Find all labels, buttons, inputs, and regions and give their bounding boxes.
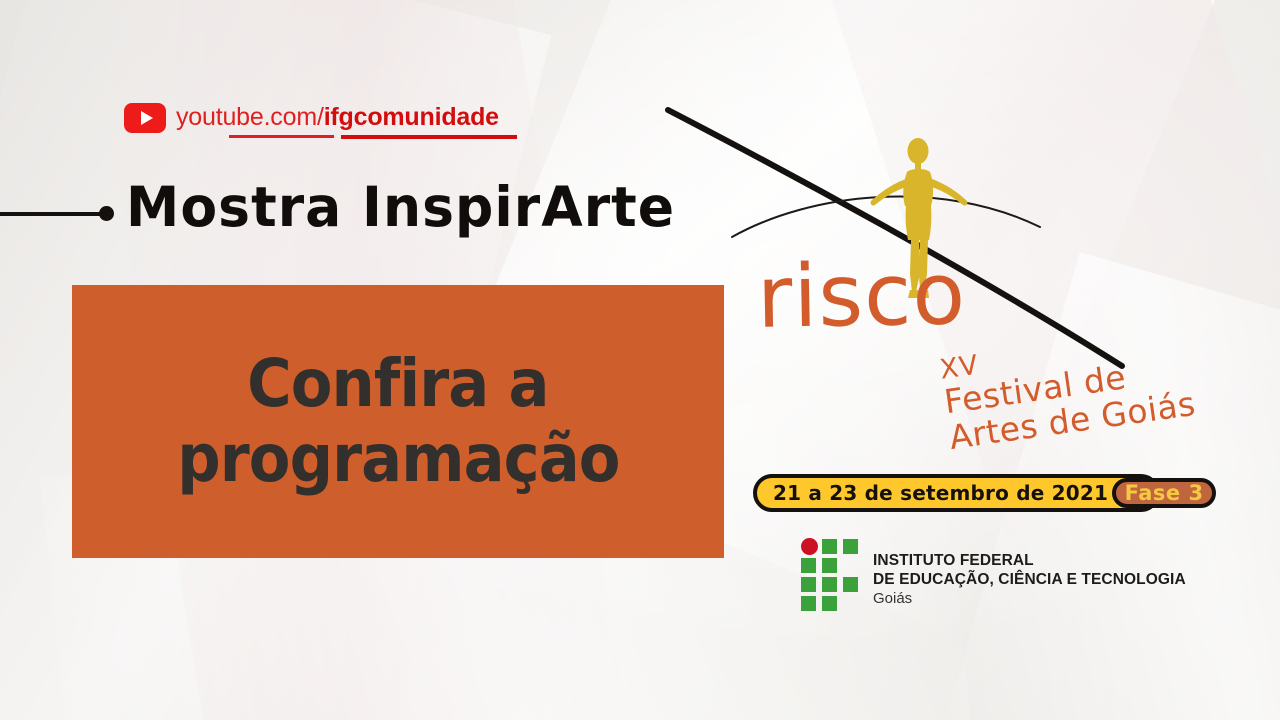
ifg-line-3: Goiás — [873, 590, 1186, 608]
ifg-line-1: INSTITUTO FEDERAL — [873, 552, 1186, 571]
event-dates: 21 a 23 de setembro de 2021 — [773, 481, 1112, 505]
date-banner: 21 a 23 de setembro de 2021 Fase 3 — [753, 474, 1160, 512]
ifg-logo-text: INSTITUTO FEDERAL DE EDUCAÇÃO, CIÊNCIA E… — [873, 538, 1186, 608]
ifg-logo: INSTITUTO FEDERAL DE EDUCAÇÃO, CIÊNCIA E… — [801, 538, 1186, 608]
cta-line-2: programação — [177, 425, 619, 494]
youtube-url-prefix: youtube.com/ — [176, 103, 324, 131]
page-title: Mostra InspirArte — [126, 176, 675, 240]
cta-box[interactable]: Confira a programação — [72, 285, 724, 558]
ifg-green-cell — [801, 577, 816, 592]
poster-canvas: youtube.com/ifgcomunidade Mostra InspirA… — [0, 0, 1280, 720]
ifg-green-cell — [801, 558, 816, 573]
youtube-underline — [341, 135, 517, 139]
ifg-green-cell — [822, 558, 837, 573]
ifg-green-cell — [843, 539, 858, 554]
ifg-line-2: DE EDUCAÇÃO, CIÊNCIA E TECNOLOGIA — [873, 571, 1186, 590]
ifg-logo-mark — [801, 538, 859, 608]
cta-line-1: Confira a — [247, 350, 548, 419]
ifg-green-cell — [801, 596, 816, 611]
ifg-green-cell — [822, 596, 837, 611]
youtube-link[interactable]: youtube.com/ifgcomunidade — [124, 103, 499, 133]
ifg-green-cell — [843, 577, 858, 592]
risco-wordmark: risco — [756, 251, 966, 341]
tightrope-wire — [732, 197, 1040, 237]
ifg-green-cell — [822, 577, 837, 592]
youtube-underline — [229, 135, 334, 138]
ifg-red-dot — [801, 538, 818, 555]
youtube-url-handle: ifgcomunidade — [324, 103, 499, 131]
youtube-play-icon — [124, 103, 166, 133]
decorative-rule — [0, 212, 108, 216]
youtube-url: youtube.com/ifgcomunidade — [176, 105, 499, 132]
phase-badge: Fase 3 — [1112, 478, 1216, 508]
ifg-green-cell — [822, 539, 837, 554]
decorative-rule-dot — [99, 206, 114, 221]
